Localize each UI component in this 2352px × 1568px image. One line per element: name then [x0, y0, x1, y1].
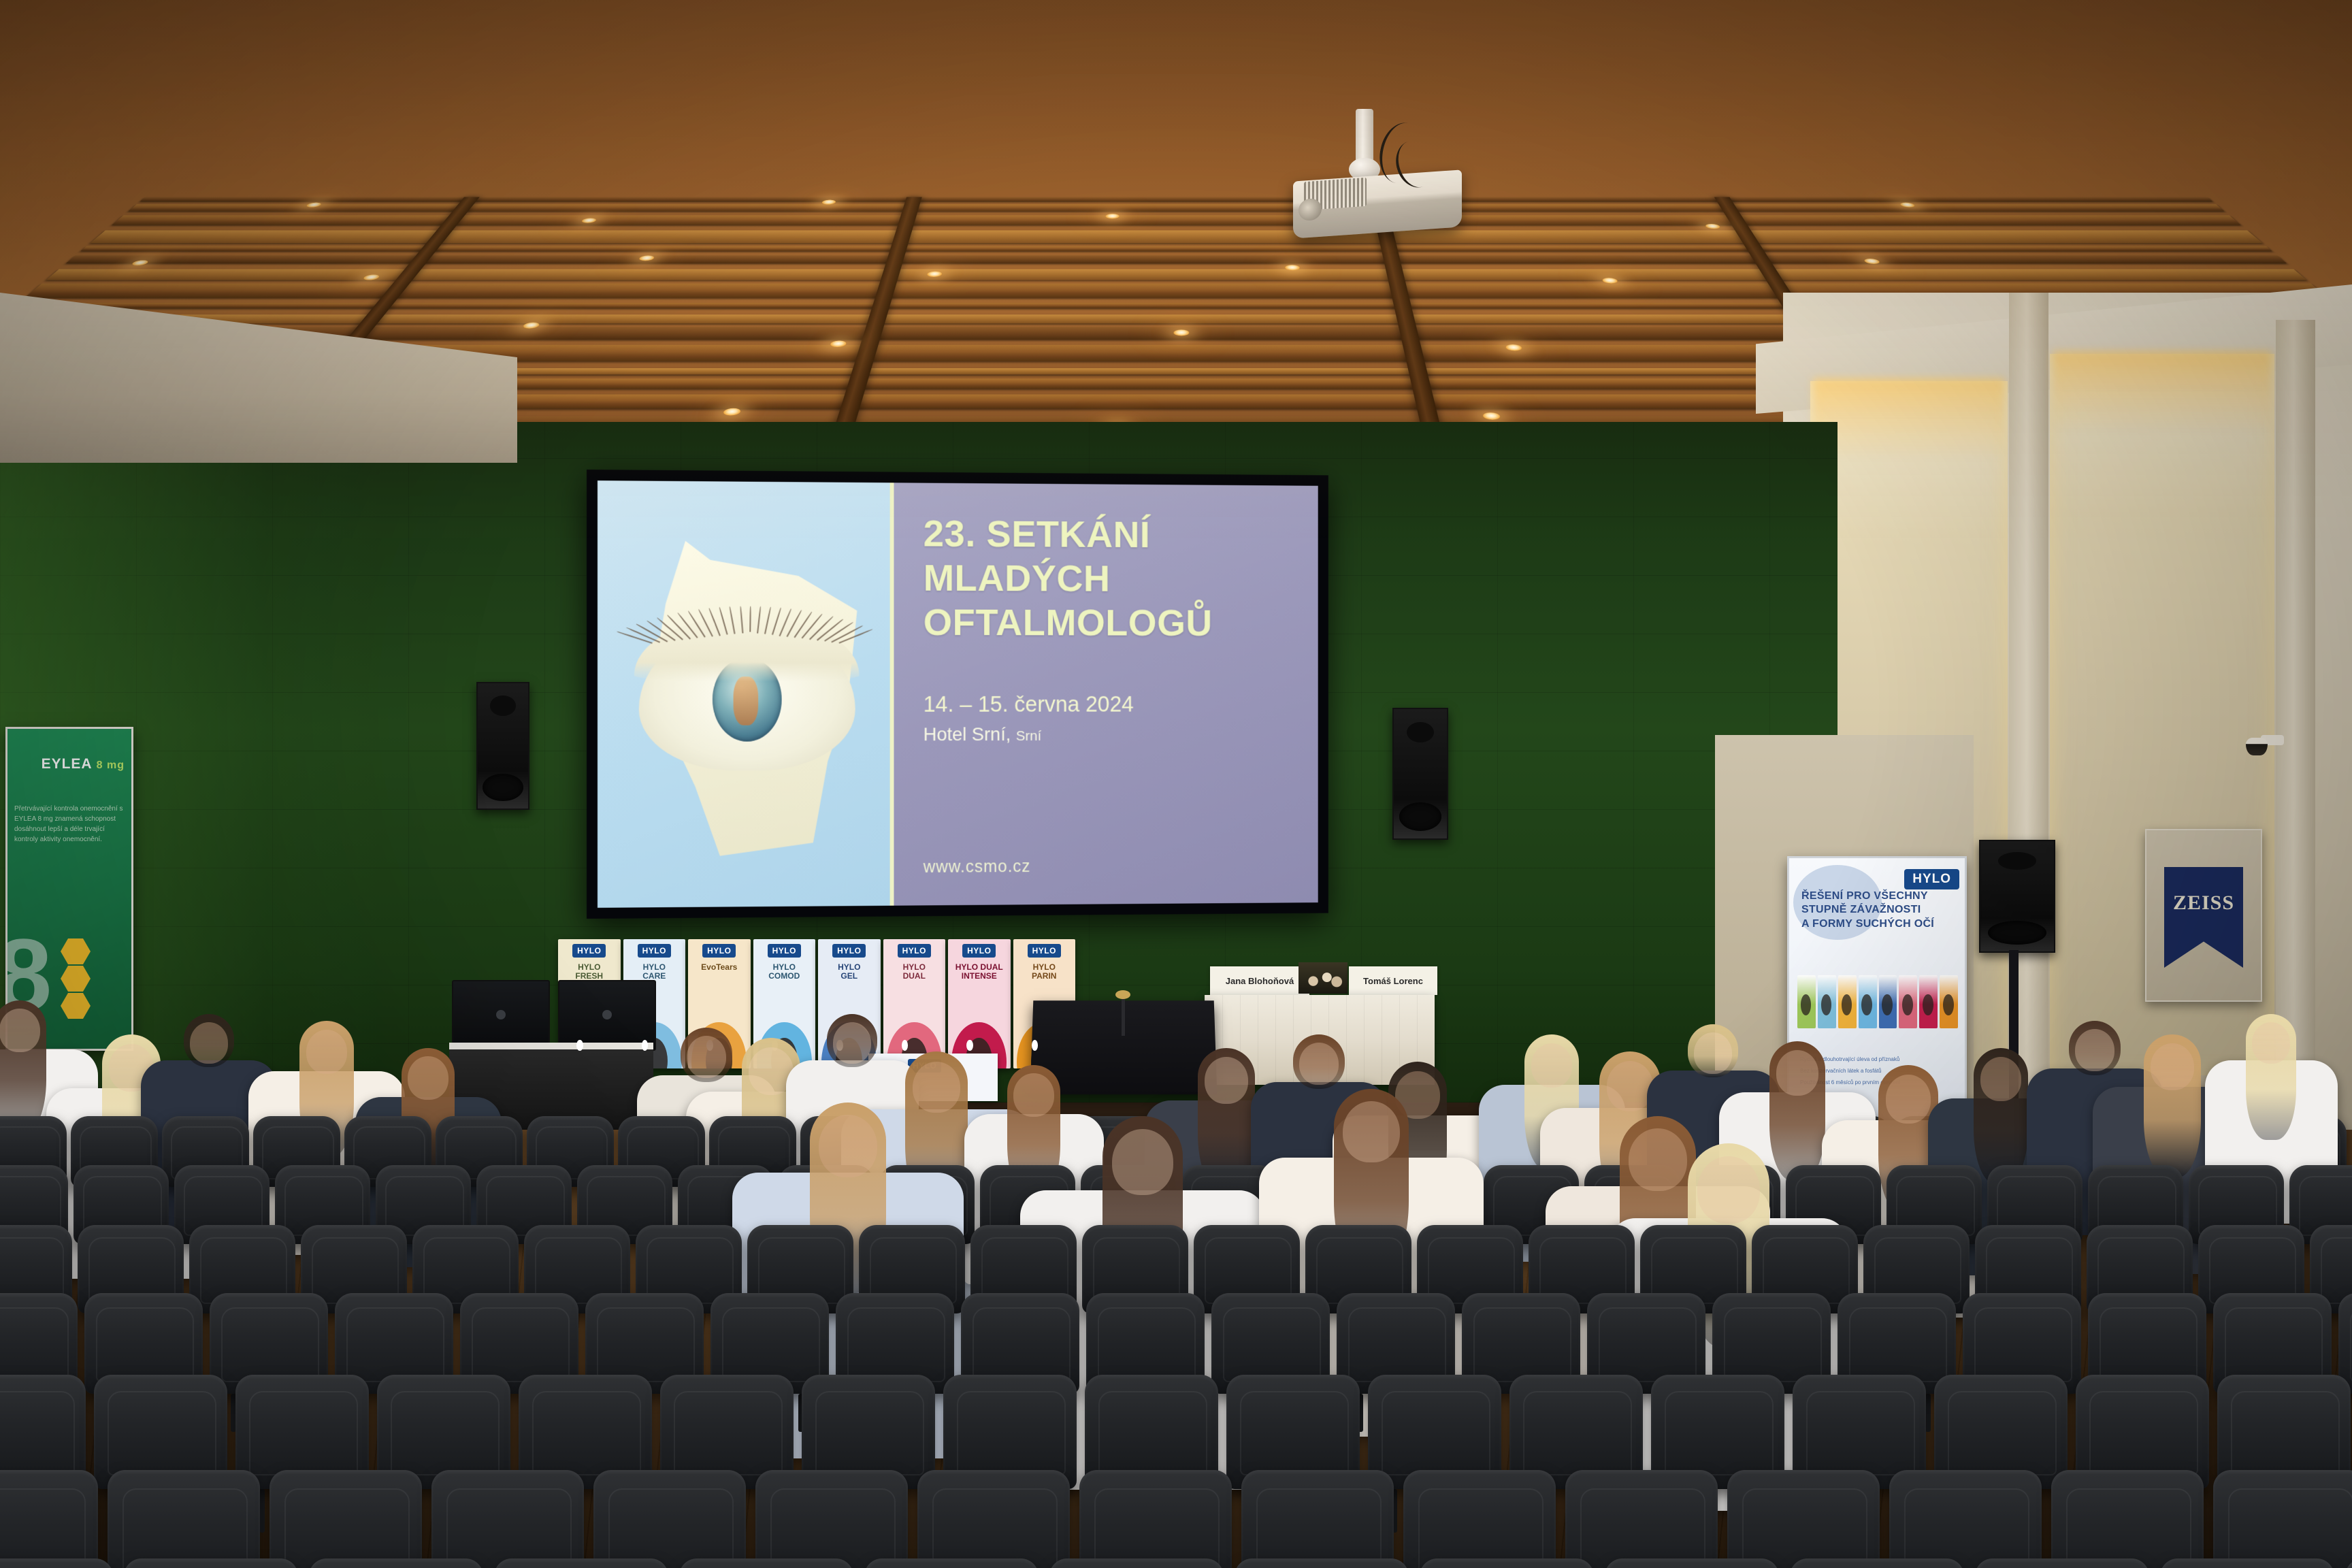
person-head — [0, 1009, 40, 1052]
ceiling-slat — [140, 197, 2212, 201]
hylo-rollup-product-box — [1940, 975, 1958, 1028]
person-head — [687, 1036, 726, 1078]
person-head — [1980, 1057, 2022, 1102]
monitor-2 — [558, 980, 656, 1051]
flower-arrangement — [1298, 962, 1347, 994]
auditorium-chair — [1049, 1558, 1224, 1568]
hylo-rollup-product-box — [1818, 975, 1836, 1028]
hylo-logo: HYLO — [1028, 944, 1061, 958]
auditorium-chair — [2051, 1470, 2204, 1568]
eylea-body-text: Přetrvávající kontrola onemocnění s EYLE… — [14, 804, 125, 845]
eylea-logo: EYLEA 8 mg — [42, 756, 125, 772]
hylo-logo: HYLO — [832, 944, 866, 958]
auditorium-chair — [1975, 1558, 2149, 1568]
slide-venue-city: Srní — [1016, 728, 1041, 744]
hylo-rollup-product-box — [1797, 975, 1816, 1028]
hylo-product-card: HYLOHYLO DUALINTENSE — [948, 939, 1011, 1068]
hylo-product-name: EvoTears — [699, 963, 739, 972]
zeiss-banner: ZEISS — [2145, 829, 2262, 1002]
auditorium-chair — [1235, 1558, 1409, 1568]
auditorium-chair — [917, 1470, 1070, 1568]
slide-venue-main: Hotel Srní, — [924, 724, 1011, 745]
nameplate-left: Jana Blohoňová — [1210, 966, 1309, 995]
ceiling-downlight — [1704, 224, 1721, 229]
hylo-rollup-product-box — [1838, 975, 1857, 1028]
person-head — [1112, 1129, 1173, 1195]
hylo-logo: HYLO — [572, 944, 606, 958]
hylo-logo: HYLO — [768, 944, 801, 958]
hylo-product-name: HYLO DUALINTENSE — [953, 963, 1005, 981]
slide-text-panel: 23. SETKÁNÍ MLADÝCH OFTALMOLOGŮ 14. – 15… — [894, 483, 1318, 905]
ceiling-slat — [65, 256, 2286, 264]
hylo-rollup-product-box — [1859, 975, 1877, 1028]
person-head — [1343, 1101, 1400, 1162]
person-head — [1629, 1128, 1686, 1191]
slide-title-line-2: MLADÝCH — [924, 555, 1318, 601]
eylea-hex-3 — [61, 993, 91, 1019]
hylo-rollup-product-box — [1919, 975, 1938, 1028]
person-head — [2075, 1029, 2114, 1071]
auditorium-chair — [2160, 1558, 2334, 1568]
chair-leg — [259, 1489, 265, 1533]
hylo-rollup-product-row — [1797, 975, 1958, 1028]
person-head — [833, 1022, 871, 1064]
auditorium-chair — [494, 1558, 668, 1568]
hylo-logo: HYLO — [962, 944, 996, 958]
auditorium-chair — [309, 1558, 483, 1568]
person-head — [1299, 1043, 1339, 1085]
slide-title: 23. SETKÁNÍ MLADÝCH OFTALMOLOGŮ — [924, 511, 1318, 645]
security-camera-icon — [2246, 730, 2284, 757]
auditorium-chair — [1605, 1558, 1779, 1568]
hylo-rollup-headline: ŘEŠENÍ PRO VŠECHNY STUPNĚ ZÁVAŽNOSTI A F… — [1801, 889, 1957, 931]
auditorium-chair — [1889, 1470, 2042, 1568]
hylo-rollup-product-box — [1879, 975, 1897, 1028]
auditorium-chair — [269, 1470, 422, 1568]
nameplate-right: Tomáš Lorenc — [1349, 966, 1437, 995]
person-head — [1205, 1057, 1248, 1104]
hylo-product-name: HYLODUAL — [901, 963, 928, 981]
auditorium-chair — [124, 1558, 298, 1568]
slide-title-line-1: 23. SETKÁNÍ — [924, 511, 1318, 557]
hylo-rollup-logo: HYLO — [1904, 869, 1959, 889]
cove-light-2 — [2053, 351, 2272, 433]
projector-mount-pole — [1356, 109, 1373, 162]
auditorium-chair — [593, 1470, 746, 1568]
zeiss-logo: ZEISS — [2164, 867, 2243, 968]
auditorium-chair — [108, 1470, 260, 1568]
auditorium-chair — [864, 1558, 1039, 1568]
person-head — [2252, 1022, 2290, 1064]
person-head — [1776, 1050, 1818, 1096]
auditorium-chair — [1420, 1558, 1594, 1568]
auditorium-chair — [1790, 1558, 1964, 1568]
monitor-1 — [452, 980, 550, 1051]
person-head — [1013, 1073, 1053, 1117]
zeiss-brand-text: ZEISS — [2173, 892, 2234, 915]
auditorium-chair — [2213, 1470, 2352, 1568]
wall-speaker-right — [1392, 708, 1448, 840]
hylo-logo: HYLO — [898, 944, 931, 958]
hylo-headline-line-3: A FORMY SUCHÝCH OČÍ — [1801, 917, 1957, 931]
floor-speaker-right — [1979, 840, 2055, 953]
eylea-hex-2 — [61, 966, 91, 992]
ceiling-downlight — [722, 408, 742, 416]
ceiling-slat — [46, 269, 2306, 280]
eylea-dose: 8 mg — [97, 759, 125, 771]
ceiling-slat — [112, 216, 2240, 225]
eylea-hex-1 — [61, 938, 91, 964]
hylo-logo: HYLO — [638, 944, 671, 958]
person-head — [819, 1115, 877, 1177]
auditorium-chair — [755, 1470, 908, 1568]
slide-url: www.csmo.cz — [924, 857, 1031, 877]
wall-speaker-left — [476, 682, 529, 810]
auditorium-chair — [0, 1558, 113, 1568]
hylo-headline-line-1: ŘEŠENÍ PRO VŠECHNY — [1801, 889, 1957, 903]
hylo-headline-line-2: STUPNĚ ZÁVAŽNOSTI — [1801, 903, 1957, 917]
auditorium-chair — [0, 1470, 98, 1568]
person-head — [306, 1030, 348, 1075]
person-head — [408, 1056, 448, 1100]
auditorium-chair — [679, 1558, 853, 1568]
hylo-product-name: HYLOPARIN — [1030, 963, 1058, 981]
person-head — [190, 1022, 228, 1064]
hylo-product-name: HYLOGEL — [836, 963, 862, 981]
person-head — [1697, 1156, 1759, 1223]
hylo-product-name: HYLOCARE — [640, 963, 668, 981]
person-head — [913, 1062, 960, 1113]
projector — [1293, 109, 1470, 245]
auditorium-chair — [1565, 1470, 1718, 1568]
person-head — [1531, 1043, 1573, 1088]
hylo-product-name: HYLOCOMOD — [766, 963, 802, 981]
auditorium-chair — [1241, 1470, 1394, 1568]
conference-hall-photo: 23. SETKÁNÍ MLADÝCH OFTALMOLOGŮ 14. – 15… — [0, 0, 2352, 1568]
hylo-product-card: HYLOHYLODUAL — [883, 939, 946, 1068]
person-head — [1886, 1075, 1931, 1124]
slide-image-panel — [598, 480, 890, 908]
ceiling-slat — [80, 246, 2272, 251]
auditorium-chair — [1403, 1470, 1556, 1568]
hylo-rollup-product-box — [1899, 975, 1917, 1028]
ceiling-slat — [90, 231, 2262, 244]
slide-date: 14. – 15. června 2024 — [924, 691, 1318, 717]
auditorium-chair — [1727, 1470, 1880, 1568]
presentation-slide: 23. SETKÁNÍ MLADÝCH OFTALMOLOGŮ 14. – 15… — [598, 480, 1318, 908]
auditorium-chair — [1079, 1470, 1232, 1568]
slide-venue: Hotel Srní, Srní — [924, 723, 1318, 745]
microphone — [1122, 996, 1125, 1036]
slide-title-line-3: OFTALMOLOGŮ — [924, 600, 1318, 645]
cove-light-1 — [1813, 378, 2005, 460]
person-head — [1607, 1061, 1653, 1111]
person-head — [2151, 1043, 2194, 1090]
auditorium-chair — [431, 1470, 584, 1568]
eye-illustration — [639, 626, 855, 771]
person-head — [1694, 1032, 1732, 1074]
hylo-product-name: HYLOFRESH — [573, 963, 605, 981]
projection-screen: 23. SETKÁNÍ MLADÝCH OFTALMOLOGŮ 14. – 15… — [587, 470, 1328, 919]
eylea-brand: EYLEA — [42, 756, 92, 772]
hylo-logo: HYLO — [702, 944, 736, 958]
eyelash — [749, 606, 751, 632]
